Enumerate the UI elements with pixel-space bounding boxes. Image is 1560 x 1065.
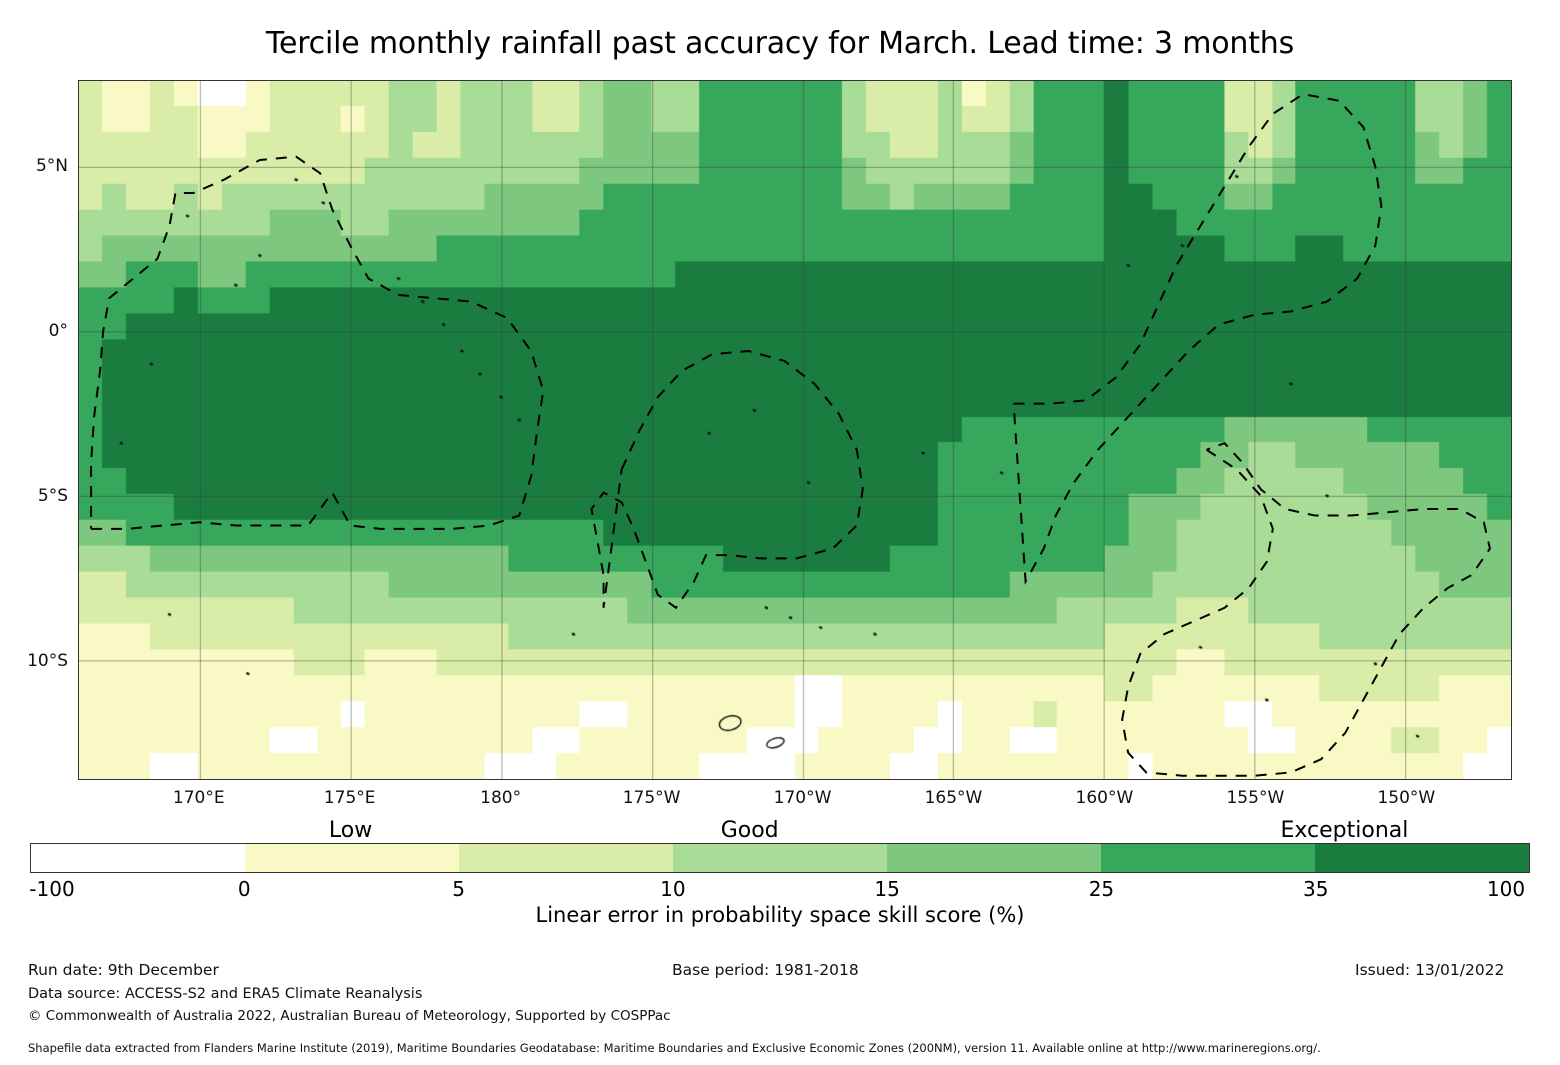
colorbar-band-4: [887, 844, 1101, 872]
page-title: Tercile monthly rainfall past accuracy f…: [0, 26, 1560, 61]
eez-boundary-tokelau-samoa-eez: [591, 351, 862, 608]
colorbar-category-good: Good: [721, 818, 779, 843]
colorbar-tick-2: 5: [452, 877, 465, 901]
x-tick-5: 165°W: [925, 788, 983, 808]
colorbar-tick-1: 0: [238, 877, 251, 901]
colorbar-gradient: [30, 843, 1530, 873]
colorbar-band-6: [1315, 844, 1529, 872]
colorbar-band-0: [31, 844, 245, 872]
copyright-text: © Commonwealth of Australia 2022, Austra…: [28, 1008, 671, 1024]
colorbar[interactable]: [30, 843, 1530, 873]
map-plot-area[interactable]: [78, 80, 1512, 780]
issued-date-text: Issued: 13/01/2022: [1355, 961, 1504, 979]
shapefile-credit-text: Shapefile data extracted from Flanders M…: [28, 1041, 1321, 1055]
y-tick-1: 0°: [68, 321, 87, 341]
data-source-text: Data source: ACCESS-S2 and ERA5 Climate …: [28, 986, 422, 1002]
colorbar-category-exceptional: Exceptional: [1281, 818, 1409, 843]
y-tick-2: 5°S: [68, 486, 98, 506]
colorbar-band-2: [459, 844, 673, 872]
base-period-text: Base period: 1981-2018: [672, 961, 859, 979]
y-tick-0: 5°N: [68, 156, 100, 176]
colorbar-tick-3: 10: [660, 877, 685, 901]
colorbar-tick-0: -100: [29, 877, 74, 901]
eez-boundary-cook-islands-north-eez: [1122, 443, 1490, 776]
x-tick-6: 160°W: [1076, 788, 1134, 808]
colorbar-tick-7: 100: [1487, 877, 1525, 901]
colorbar-tick-5: 25: [1089, 877, 1114, 901]
x-tick-8: 150°W: [1377, 788, 1435, 808]
eez-boundary-overlay: [79, 81, 1511, 779]
x-tick-0: 170°E: [173, 788, 225, 808]
eez-boundary-solomon-vanuatu-fiji-eez: [91, 157, 543, 529]
colorbar-band-1: [245, 844, 459, 872]
colorbar-band-5: [1101, 844, 1315, 872]
x-tick-7: 155°W: [1226, 788, 1284, 808]
colorbar-tick-4: 15: [874, 877, 899, 901]
colorbar-tick-6: 35: [1303, 877, 1328, 901]
run-date-text: Run date: 9th December: [28, 961, 219, 979]
y-tick-3: 10°S: [68, 651, 109, 671]
colorbar-band-3: [673, 844, 887, 872]
x-tick-1: 175°E: [324, 788, 376, 808]
x-tick-2: 180°: [480, 788, 521, 808]
eez-boundary-kiribati-line-islands-eez: [1014, 94, 1382, 581]
x-tick-4: 170°W: [774, 788, 832, 808]
x-tick-3: 175°W: [623, 788, 681, 808]
colorbar-axis-label: Linear error in probability space skill …: [0, 903, 1560, 927]
colorbar-category-low: Low: [329, 818, 372, 843]
